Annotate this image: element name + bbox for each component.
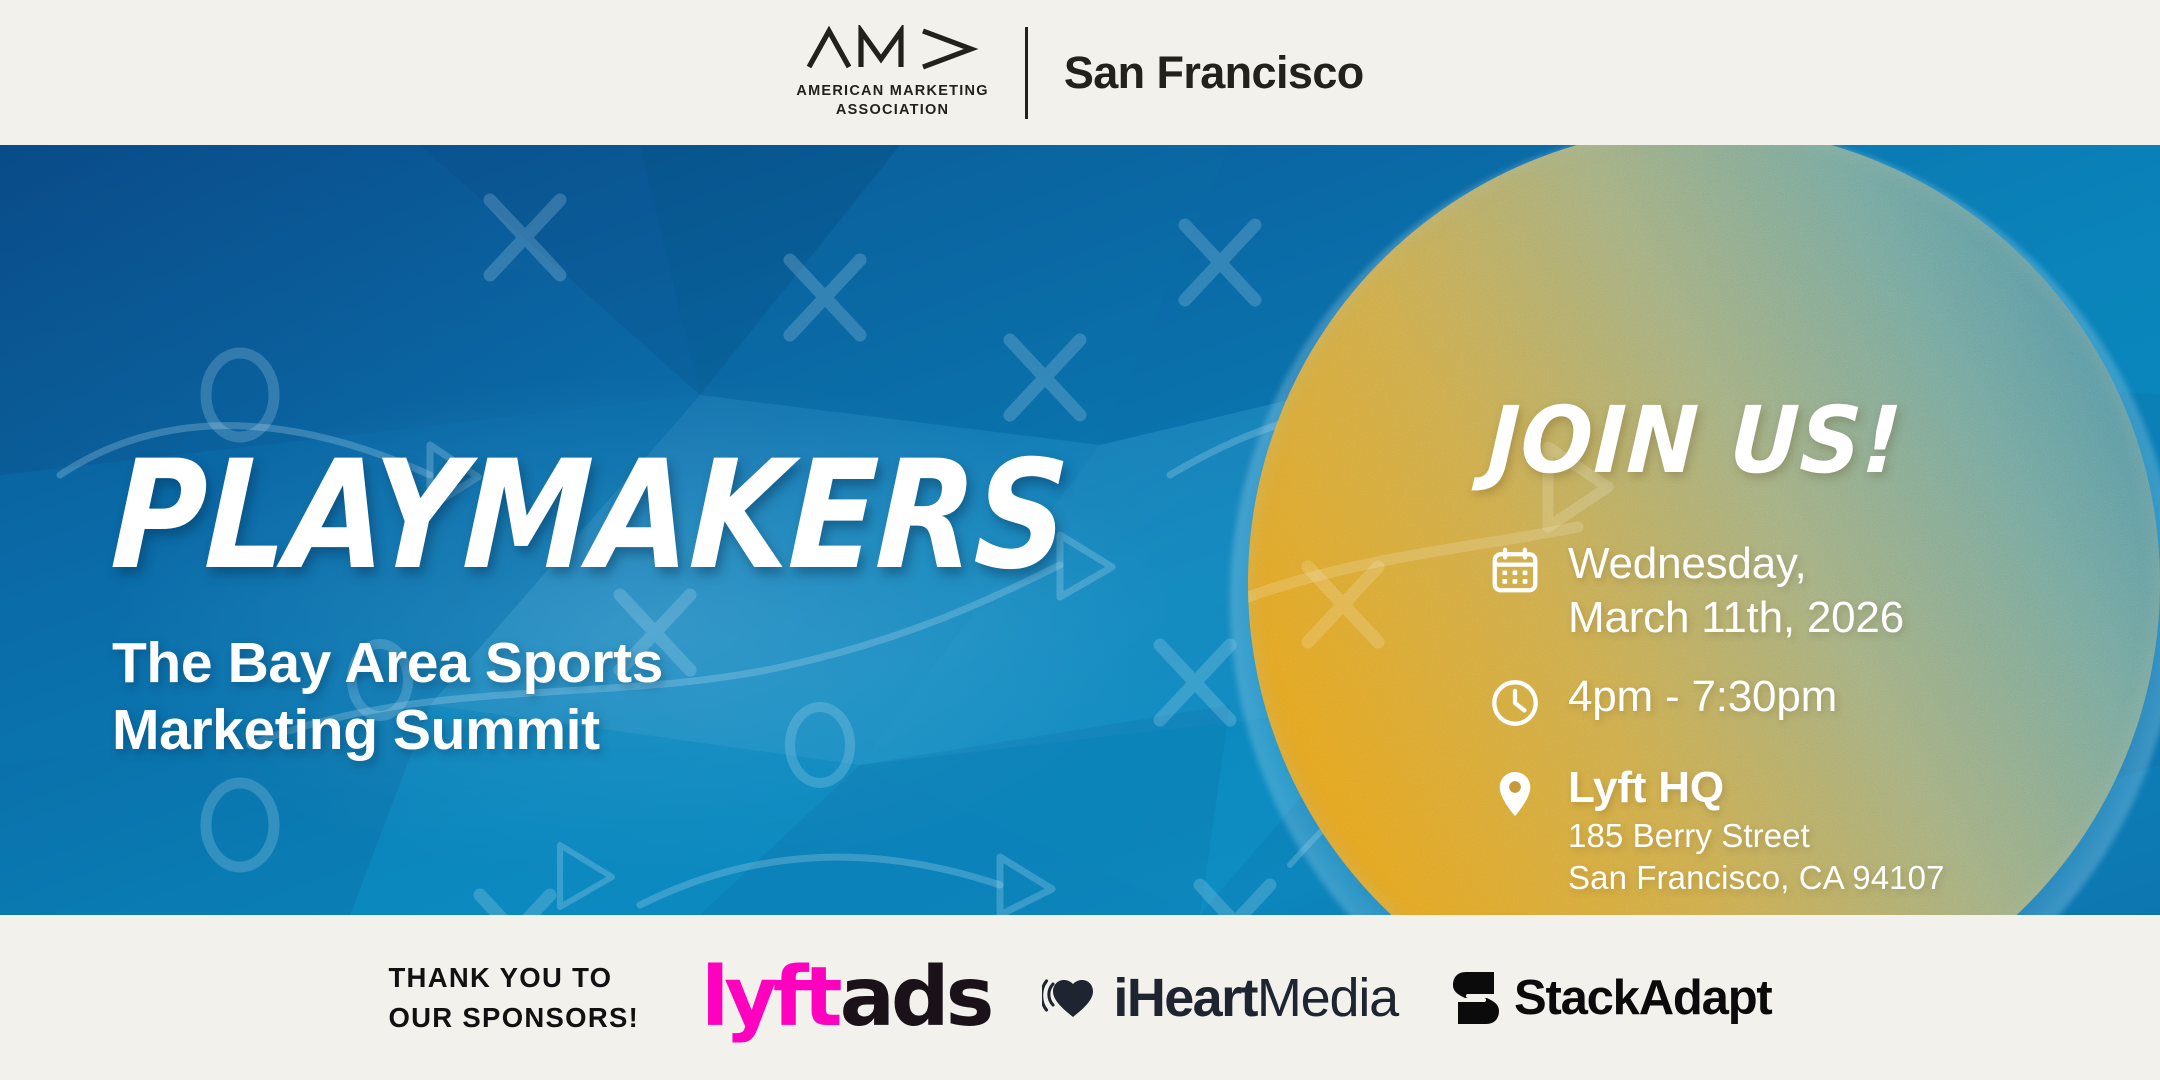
media-wordmark: Media	[1257, 967, 1398, 1029]
thank-you-text: THANK YOU TO OUR SPONSORS!	[388, 958, 639, 1038]
ama-chevron-logo-icon	[805, 25, 981, 73]
detail-row-time: 4pm - 7:30pm	[1488, 670, 2128, 735]
ama-org-line1: AMERICAN MARKETING	[796, 82, 988, 101]
lyft-wordmark: lyft	[701, 950, 837, 1045]
event-subtitle-line1: The Bay Area Sports	[112, 630, 1072, 697]
event-subtitle-line2: Marketing Summit	[112, 697, 1072, 764]
thank-you-line1: THANK YOU TO	[388, 958, 639, 998]
event-street: 185 Berry Street	[1568, 815, 1945, 857]
stackadapt-wordmark: StackAdapt	[1514, 970, 1772, 1026]
event-title: PLAYMAKERS	[109, 445, 941, 588]
ama-org-name: AMERICAN MARKETING ASSOCIATION	[796, 82, 988, 121]
hero-section: PLAYMAKERS The Bay Area Sports Marketing…	[0, 145, 2160, 915]
map-pin-icon	[1488, 761, 1542, 826]
ama-logo: AMERICAN MARKETING ASSOCIATION	[796, 25, 1024, 121]
event-venue: Lyft HQ	[1568, 761, 1945, 815]
join-us-headline: JOIN US!	[1486, 395, 2079, 487]
sponsor-logo-stackadapt[interactable]: StackAdapt	[1450, 968, 1772, 1028]
hero-copy: PLAYMAKERS The Bay Area Sports Marketing…	[112, 445, 1072, 764]
sponsor-logo-lyft-ads[interactable]: lyft ads	[701, 950, 990, 1045]
event-city-state-zip: San Francisco, CA 94107	[1568, 857, 1945, 899]
iheart-wordmark: iHeart	[1113, 967, 1256, 1029]
iheart-radio-heart-icon	[1042, 972, 1104, 1024]
detail-row-location: Lyft HQ 185 Berry Street San Francisco, …	[1488, 761, 2128, 898]
banner-header: AMERICAN MARKETING ASSOCIATION San Franc…	[0, 0, 2160, 145]
clock-icon	[1488, 670, 1542, 735]
stackadapt-s-icon	[1450, 968, 1502, 1028]
ads-wordmark: ads	[840, 950, 991, 1045]
event-date-line1: Wednesday,	[1568, 537, 1904, 591]
thank-you-line2: OUR SPONSORS!	[388, 998, 639, 1038]
event-subtitle: The Bay Area Sports Marketing Summit	[112, 630, 1072, 765]
sponsor-logo-iheartmedia[interactable]: iHeart Media	[1042, 967, 1398, 1029]
ama-org-line2: ASSOCIATION	[796, 101, 988, 120]
sponsor-logos: lyft ads iHeart Media	[701, 950, 1771, 1045]
event-time: 4pm - 7:30pm	[1568, 670, 1837, 724]
event-details: JOIN US!	[1488, 395, 2128, 898]
event-banner: AMERICAN MARKETING ASSOCIATION San Franc…	[0, 0, 2160, 1080]
sponsor-footer: THANK YOU TO OUR SPONSORS! lyft ads	[0, 915, 2160, 1080]
chapter-name: San Francisco	[1028, 47, 1364, 99]
detail-row-date: Wednesday, March 11th, 2026	[1488, 537, 2128, 644]
event-date-line2: March 11th, 2026	[1568, 591, 1904, 645]
calendar-icon	[1488, 537, 1542, 602]
